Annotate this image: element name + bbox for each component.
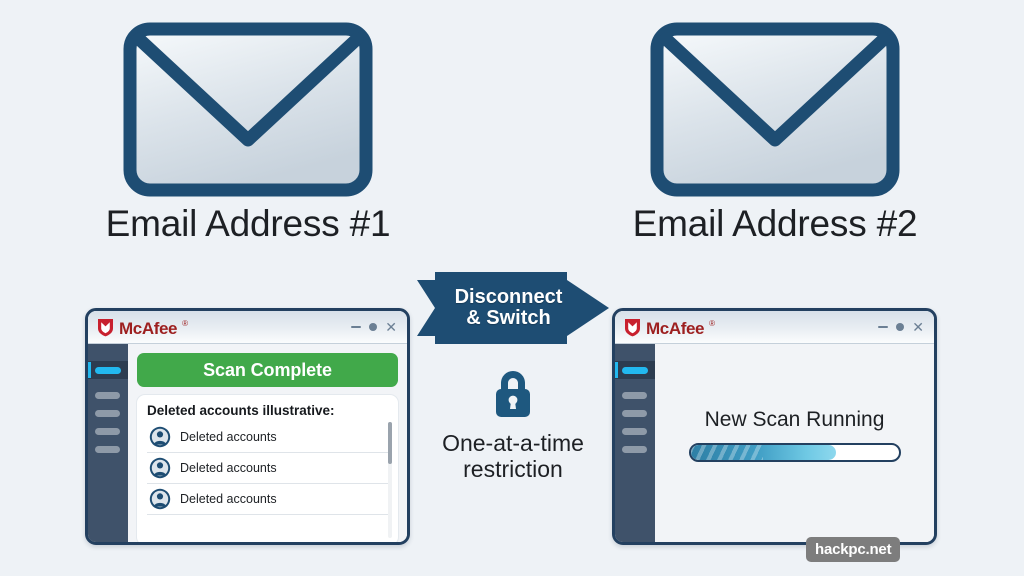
list-item-label: Deleted accounts	[180, 430, 277, 444]
mcafee-brand-right: McAfee ®	[624, 318, 715, 337]
deleted-accounts-card: Deleted accounts illustrative: Deleted a…	[137, 395, 398, 545]
email-address-2-block: Email Address #2	[565, 22, 985, 245]
sidebar-item-4[interactable]	[615, 422, 655, 440]
sidebar-item-indicator	[622, 367, 648, 374]
arrow-label-line1: Disconnect	[455, 287, 563, 308]
lock-wrapper	[417, 366, 609, 422]
sidebar-item-5[interactable]	[88, 440, 128, 458]
user-avatar-icon	[149, 457, 171, 479]
email-address-1-block: Email Address #1	[38, 22, 458, 245]
deleted-accounts-title: Deleted accounts illustrative:	[147, 403, 392, 418]
site-watermark: hackpc.net	[806, 537, 900, 562]
sidebar-item-2[interactable]	[88, 386, 128, 404]
mcafee-shield-icon	[624, 318, 641, 337]
mcafee-brand-left: McAfee ®	[97, 318, 188, 337]
scan-progress-bar	[689, 443, 901, 462]
sidebar-left[interactable]	[88, 344, 128, 545]
content-right: New Scan Running	[655, 344, 934, 545]
user-avatar-icon	[149, 488, 171, 510]
maximize-icon[interactable]	[896, 323, 904, 331]
sidebar-item-active[interactable]	[88, 361, 128, 379]
window-body-left: Scan Complete Deleted accounts illustrat…	[88, 344, 407, 545]
mcafee-brand-label-right: McAfee	[646, 320, 704, 337]
sidebar-spacer	[88, 379, 128, 386]
sidebar-item-indicator	[95, 428, 120, 435]
mcafee-trademark-right: ®	[709, 320, 715, 328]
sidebar-item-5[interactable]	[615, 440, 655, 458]
scan-status-label: New Scan Running	[705, 408, 885, 432]
sidebar-item-3[interactable]	[88, 404, 128, 422]
arrow-label: Disconnect & Switch	[417, 272, 592, 344]
scan-status-area: New Scan Running	[664, 353, 925, 545]
list-item-label: Deleted accounts	[180, 461, 277, 475]
sidebar-item-active[interactable]	[615, 361, 655, 379]
scrollbar-thumb[interactable]	[388, 422, 392, 464]
titlebar-left: McAfee ® ✕	[88, 311, 407, 344]
email-address-2-label: Email Address #2	[565, 203, 985, 245]
list-item[interactable]: Deleted accounts	[147, 422, 392, 453]
sidebar-item-indicator	[95, 446, 120, 453]
sidebar-item-indicator	[622, 428, 647, 435]
close-icon[interactable]: ✕	[385, 320, 397, 334]
sidebar-item-indicator	[95, 367, 121, 374]
list-item[interactable]: Deleted accounts	[147, 484, 392, 515]
restriction-note: One-at-a-time restriction	[417, 430, 609, 482]
arrow-label-line2: & Switch	[466, 308, 550, 329]
scan-complete-banner: Scan Complete	[137, 353, 398, 387]
disconnect-switch-arrow: Disconnect & Switch	[417, 272, 609, 344]
diagram-canvas: Email Address #1 Email Address #2 Discon…	[0, 0, 1024, 576]
minimize-icon[interactable]	[351, 326, 361, 328]
window-controls-right[interactable]: ✕	[878, 320, 924, 334]
list-item[interactable]: Deleted accounts	[147, 453, 392, 484]
maximize-icon[interactable]	[369, 323, 377, 331]
restriction-note-line2: restriction	[417, 456, 609, 482]
content-left: Scan Complete Deleted accounts illustrat…	[128, 344, 407, 545]
mcafee-brand-label-left: McAfee	[119, 320, 177, 337]
sidebar-item-indicator	[622, 392, 647, 399]
list-item-label: Deleted accounts	[180, 492, 277, 506]
sidebar-item-indicator	[622, 446, 647, 453]
sidebar-item-4[interactable]	[88, 422, 128, 440]
mcafee-window-right[interactable]: McAfee ® ✕	[612, 308, 937, 545]
lock-icon	[485, 366, 541, 422]
minimize-icon[interactable]	[878, 326, 888, 328]
close-icon[interactable]: ✕	[912, 320, 924, 334]
titlebar-right: McAfee ® ✕	[615, 311, 934, 344]
sidebar-spacer	[615, 379, 655, 386]
sidebar-item-2[interactable]	[615, 386, 655, 404]
envelope-icon	[123, 22, 373, 197]
user-avatar-icon	[149, 426, 171, 448]
email-address-1-label: Email Address #1	[38, 203, 458, 245]
restriction-note-line1: One-at-a-time	[417, 430, 609, 456]
sidebar-item-indicator	[622, 410, 647, 417]
transition-column: Disconnect & Switch One-at-a-time restri…	[417, 272, 609, 482]
scan-progress-stripes	[691, 445, 764, 460]
window-controls-left[interactable]: ✕	[351, 320, 397, 334]
sidebar-right[interactable]	[615, 344, 655, 545]
sidebar-item-3[interactable]	[615, 404, 655, 422]
mcafee-shield-icon	[97, 318, 114, 337]
sidebar-item-indicator	[95, 410, 120, 417]
scan-progress-fill	[691, 445, 837, 460]
mcafee-trademark-left: ®	[182, 320, 188, 328]
sidebar-item-indicator	[95, 392, 120, 399]
envelope-icon	[650, 22, 900, 197]
window-body-right: New Scan Running	[615, 344, 934, 545]
mcafee-window-left[interactable]: McAfee ® ✕	[85, 308, 410, 545]
